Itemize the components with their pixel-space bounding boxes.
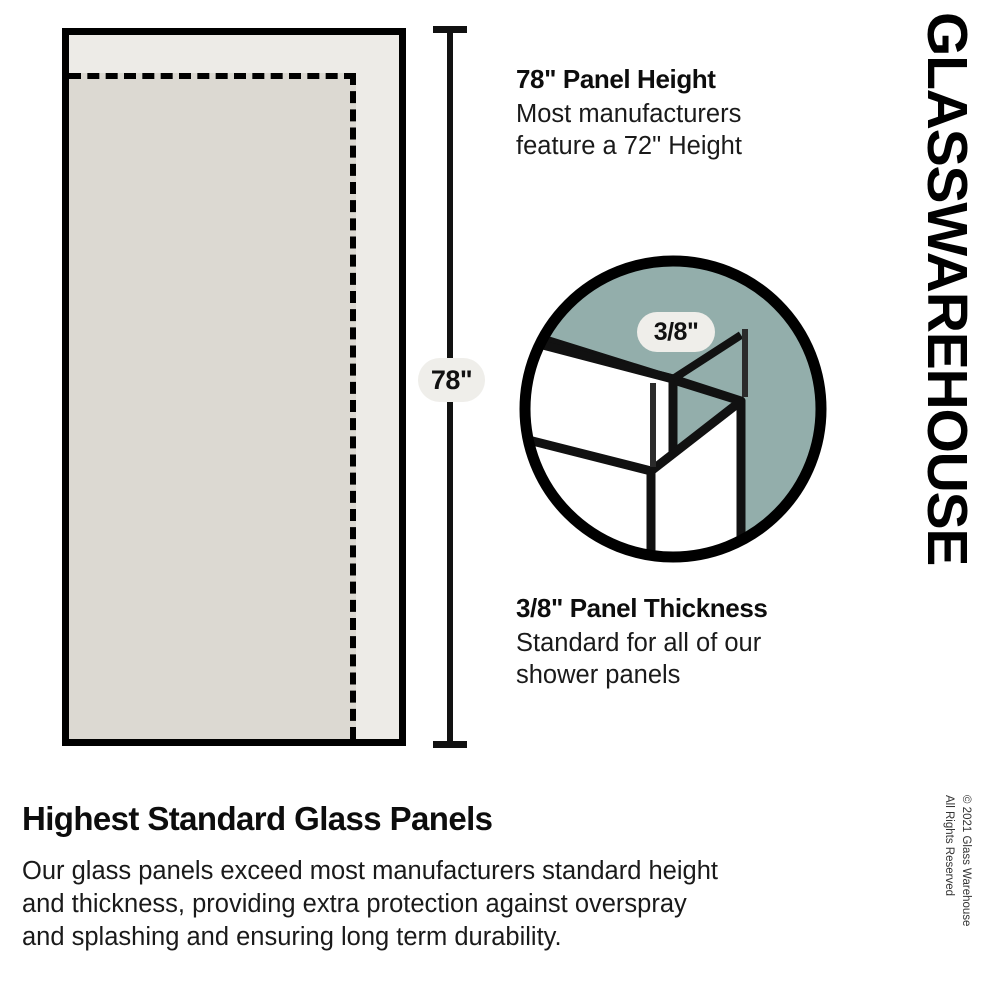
panel-thickness-title: 3/8" Panel Thickness [516, 594, 856, 623]
dimension-cap-bottom [433, 741, 467, 748]
panel-thickness-body: Standard for all of our shower panels [516, 627, 856, 691]
panel-height-title: 78" Panel Height [516, 65, 846, 94]
brand-wordmark: GLASSWAREHOUSE [905, 0, 982, 600]
footer-paragraph-line-3: and splashing and ensuring long term dur… [22, 923, 562, 951]
copyright-line-1: © 2021 Glass Warehouse [957, 795, 974, 926]
panel-outline-72-dashed [69, 73, 356, 739]
panel-thickness-callout: 3/8" Panel Thickness Standard for all of… [516, 594, 856, 691]
dimension-badge-78: 78" [418, 358, 485, 402]
panel-height-body-line-2: feature a 72" Height [516, 132, 742, 160]
panel-height-body: Most manufacturers feature a 72" Height [516, 98, 846, 162]
footer-headline: Highest Standard Glass Panels [22, 800, 892, 838]
panel-thickness-illustration: 3/8" [513, 249, 833, 569]
infographic-stage: 78" 78" Panel Height Most manufacturers … [0, 0, 982, 990]
copyright-notice: © 2021 Glass Warehouse All Rights Reserv… [930, 795, 976, 975]
copyright-line-2: All Rights Reserved [941, 795, 958, 926]
panel-thickness-body-line-1: Standard for all of our [516, 629, 761, 657]
footer-paragraph-line-1: Our glass panels exceed most manufacture… [22, 857, 718, 885]
panel-height-body-line-1: Most manufacturers [516, 100, 741, 128]
footer-paragraph: Our glass panels exceed most manufacture… [22, 855, 892, 954]
thickness-badge-label: 3/8" [637, 312, 715, 352]
footer-copy: Highest Standard Glass Panels Our glass … [22, 800, 892, 954]
copyright-text: © 2021 Glass Warehouse All Rights Reserv… [941, 795, 974, 926]
dimension-cap-top [433, 26, 467, 33]
glass-panel-diagram [62, 28, 406, 746]
brand-wordmark-text: GLASSWAREHOUSE [918, 12, 975, 565]
footer-paragraph-line-2: and thickness, providing extra protectio… [22, 890, 687, 918]
panel-thickness-body-line-2: shower panels [516, 661, 680, 689]
panel-height-callout: 78" Panel Height Most manufacturers feat… [516, 65, 846, 162]
